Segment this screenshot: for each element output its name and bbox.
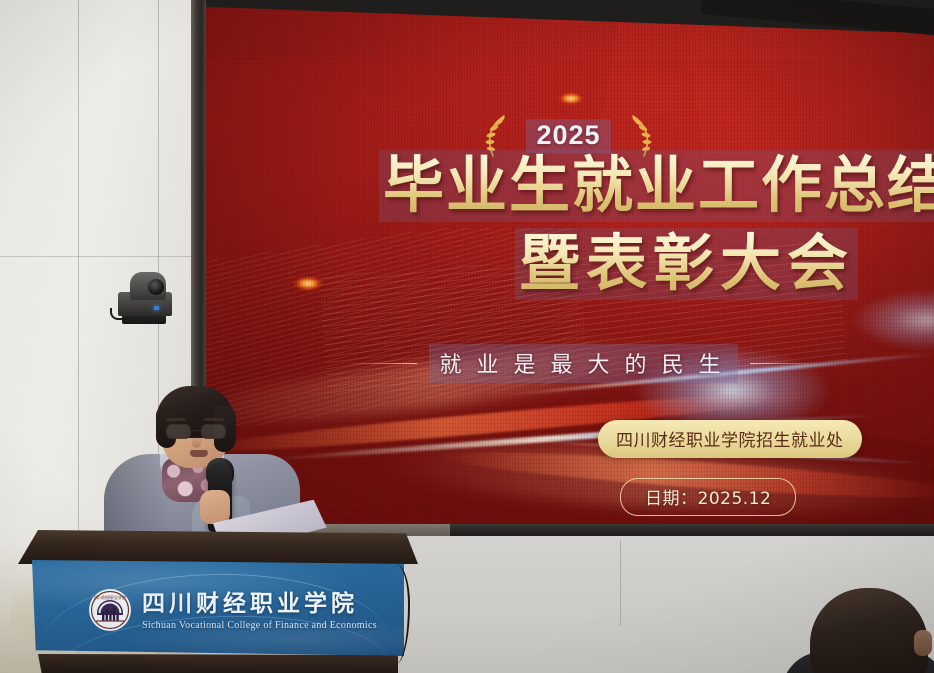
subtitle-rule-left [345,363,417,364]
lens-left [166,424,191,439]
title-line-1-plate: 毕业生就业工作总结 [379,150,934,222]
conference-photo-scene: 2025 毕业生就业工作总 [0,0,934,673]
podium-name-en: Sichuan Vocational College of Finance an… [142,620,377,631]
speaker-hand [200,490,230,524]
date-badge: 日期：2025.12 [620,478,796,516]
ptz-camera-icon [118,272,174,324]
speaker-nose [192,436,201,448]
screen-subtitle-row: 就业是最大的民生 [203,344,934,383]
speaker-eyebrow-right [204,418,224,421]
year-label: 2025 [526,119,610,153]
organization-badge: 四川财经职业学院招生就业处 [598,420,862,458]
title-line-1: 毕业生就业工作总结 [383,150,934,221]
podium-base [38,654,398,673]
lens-right [201,424,226,439]
title-line-2-plate: 暨表彰大会 [515,228,858,300]
svg-text:四川财经职业学院: 四川财经职业学院 [94,594,126,600]
podium-cable [382,564,410,664]
camera-cable [110,308,128,320]
podium-top-surface [18,530,418,564]
college-crest-icon: 四川财经职业学院 [88,588,132,632]
speaker-person [104,388,314,548]
subtitle-label: 就业是最大的民生 [429,344,737,383]
speaker-eyebrow-left [166,418,186,421]
wall-seam-horizontal [0,256,200,257]
camera-status-led [154,306,159,310]
speaker-mouth [190,450,208,457]
podium: 四川财经职业学院 四川财经职业学院 Sichuan Vocational Col… [18,530,418,673]
screen-title: 毕业生就业工作总结 暨表彰大会 [203,150,934,300]
podium-name-cn: 四川财经职业学院 [142,584,377,618]
subtitle-rule-right [750,363,822,364]
podium-nameplate: 四川财经职业学院 Sichuan Vocational College of F… [142,584,377,631]
camera-lens [148,279,164,295]
attendee-ear [914,630,932,656]
title-line-2: 暨表彰大会 [519,228,854,299]
wall-lower-seam [620,540,621,626]
